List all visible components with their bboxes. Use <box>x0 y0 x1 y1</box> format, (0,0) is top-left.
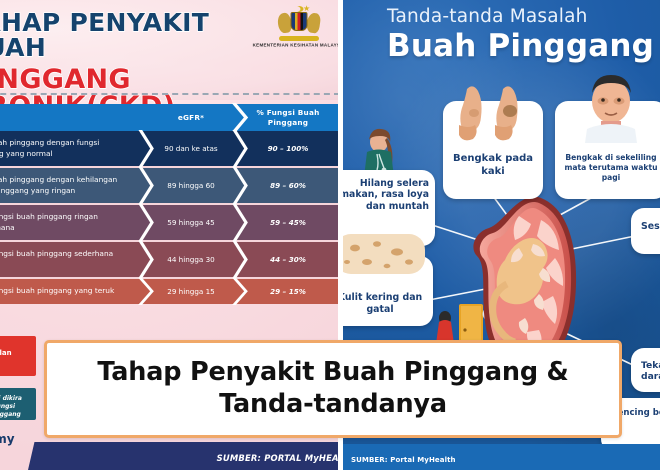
caption-line-1: Tahap Penyakit Buah Pinggang & <box>97 357 568 389</box>
caption-line-2: Tanda-tandanya <box>219 389 447 421</box>
table-cell-percent: 89 – 60% <box>238 168 338 203</box>
table-cell-egfr: 44 hingga 30 <box>144 242 238 277</box>
callout-text: Bengkak di sekeliling mata terutama wakt… <box>555 153 660 183</box>
ckd-stages-table: eGFR* % Fungsi Buah Pinggang Kerosakan b… <box>0 104 338 304</box>
table-header-row: eGFR* % Fungsi Buah Pinggang <box>0 104 338 131</box>
table-cell-egfr: 89 hingga 60 <box>144 168 238 203</box>
table-header-egfr: eGFR* <box>144 104 238 131</box>
shield-icon <box>291 12 308 31</box>
dry-skin-icon <box>343 228 427 288</box>
table-row: Kerosakan buah pinggang dengan kehilanga… <box>0 168 338 203</box>
table-cell-description: Kehilangan fungsi buah pinggang yang ter… <box>0 279 144 304</box>
swollen-eyes-face-icon <box>581 71 641 143</box>
tiger-right-icon <box>306 12 322 34</box>
table-row: Kerosakan buah pinggang dengan fungsi bu… <box>0 131 338 166</box>
table-body: Kerosakan buah pinggang dengan fungsi bu… <box>0 131 338 304</box>
table-cell-description: Kerosakan buah pinggang dengan fungsi bu… <box>0 131 144 166</box>
callout-tekanan-darah[interactable]: Tekanan darah tinggi <box>631 348 660 392</box>
left-source-label: SUMBER: PORTAL MyHEALTH <box>96 453 338 463</box>
table-cell-percent: 59 – 45% <box>238 205 338 240</box>
callout-bengkak-mata[interactable]: Bengkak di sekeliling mata terutama wakt… <box>555 101 660 199</box>
gov-my-label: gov.my <box>0 432 15 446</box>
callout-kulit-kering[interactable]: Kulit kering dan gatal <box>343 256 433 326</box>
table-row: Kehilangan fungsi buah pinggang sederhan… <box>0 242 338 277</box>
callout-sesak-nafas[interactable]: Sesak nafas <box>631 208 660 254</box>
callout-bengkak-kaki[interactable]: Bengkak pada kaki <box>443 101 543 199</box>
tile-note: Kadar ini dikira diukur fungsi buah ping… <box>0 388 36 420</box>
table-cell-percent: 90 – 100% <box>238 131 338 166</box>
callout-text: Kulit kering dan gatal <box>343 292 433 316</box>
callout-text: Sesak nafas <box>641 221 660 232</box>
table-cell-description: Kehilangan fungsi buah pinggang ringan h… <box>0 205 144 240</box>
malaysia-coat-of-arms-icon: ★ KEMENTERIAN KESIHATAN MALAYSIA <box>266 5 332 55</box>
caption-overlay: Tahap Penyakit Buah Pinggang & Tanda-tan… <box>44 340 622 438</box>
dashed-divider <box>0 93 338 95</box>
scroll-banner-icon <box>279 36 319 41</box>
table-cell-percent: 29 – 15% <box>238 279 338 304</box>
callout-text: Bengkak pada kaki <box>443 153 543 179</box>
table-row: Kehilangan fungsi buah pinggang yang ter… <box>0 279 338 304</box>
table-cell-egfr: 59 hingga 45 <box>144 205 238 240</box>
tile-kegagalan: Kegagalan <box>0 336 36 376</box>
agency-logo-caption: KEMENTERIAN KESIHATAN MALAYSIA <box>253 42 338 48</box>
swollen-feet-icon <box>457 81 531 147</box>
callout-text: Tekanan darah tinggi <box>641 360 660 382</box>
table-header-description <box>0 104 144 131</box>
table-header-percent: % Fungsi Buah Pinggang <box>238 104 338 131</box>
table-cell-description: Kehilangan fungsi buah pinggang sederhan… <box>0 242 144 277</box>
table-row: Kehilangan fungsi buah pinggang ringan h… <box>0 205 338 240</box>
left-title-line1: TAHAP PENYAKIT BUAH <box>0 10 266 60</box>
poster-collage: TAHAP PENYAKIT BUAH PINGGANG KRONIK(CKD)… <box>0 0 660 470</box>
table-cell-percent: 44 – 30% <box>238 242 338 277</box>
callout-text: Hilang selera makan, rasa loya dan munta… <box>343 178 429 212</box>
table-cell-egfr: 90 dan ke atas <box>144 131 238 166</box>
table-cell-description: Kerosakan buah pinggang dengan kehilanga… <box>0 168 144 203</box>
right-source-label: SUMBER: Portal MyHealth <box>351 456 456 464</box>
crest-icon: ★ <box>277 5 321 41</box>
table-cell-egfr: 29 hingga 15 <box>144 279 238 304</box>
